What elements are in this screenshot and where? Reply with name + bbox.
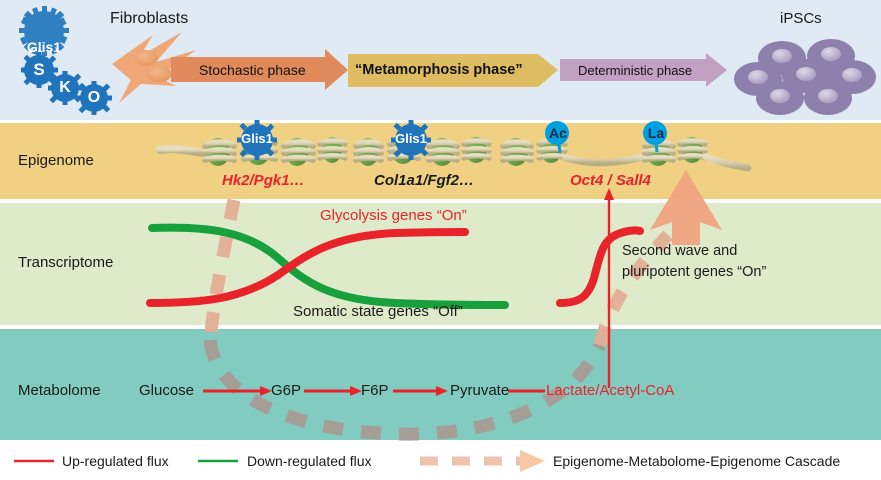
figure-root: Fibroblasts iPSCs Glis1 S K O Stochastic… [0,0,881,480]
curve-label-somatic-off: Somatic state genes “Off” [293,303,463,320]
gene-label-glycolytic: Hk2/Pgk1… [222,172,305,189]
metabolite-label-pyruvate: Pyruvate [450,382,509,399]
metabolite-label-glucose: Glucose [139,382,194,399]
band-label-transcriptome: Transcriptome [18,254,113,271]
chromatin-gear-label-glis1-a: Glis1 [235,131,279,146]
legend-label-cascade: Epigenome-Metabolome-Epigenome Cascade [553,453,840,469]
legend-label-up-regulated: Up-regulated flux [62,453,169,469]
gear-label-sox2: S [29,60,49,80]
band-label-epigenome: Epigenome [18,152,94,169]
gene-label-somatic: Col1a1/Fgf2… [374,172,474,189]
metabolite-label-f6p: F6P [361,382,389,399]
chromatin-gear-label-glis1-b: Glis1 [389,131,433,146]
curve-label-second-wave-line2: pluripotent genes “On” [622,264,766,280]
modification-label-acetylation: Ac [547,125,569,141]
band-label-metabolome: Metabolome [18,382,101,399]
curve-label-glycolysis-on: Glycolysis genes “On” [320,207,467,224]
legend-label-down-regulated: Down-regulated flux [247,453,372,469]
legend-symbol-cascade-arrow [420,450,545,472]
ipscs-label: iPSCs [780,10,822,27]
gear-label-klf4: K [55,79,75,97]
phase-label-stochastic: Stochastic phase [199,62,306,78]
metabolite-label-g6p: G6P [271,382,301,399]
phase-label-deterministic: Deterministic phase [578,63,692,78]
modification-label-lactylation: La [645,125,667,141]
gear-label-oct4: O [84,89,104,107]
fibroblasts-label: Fibroblasts [110,10,188,28]
phase-label-metamorphosis: “Metamorphosis phase” [355,62,523,78]
gear-label-glis1: Glis1 [20,39,68,55]
metabolite-label-lactate-acetyl-coa: Lactate/Acetyl-CoA [546,382,674,399]
gene-label-pluripotent: Oct4 / Sall4 [570,172,651,189]
curve-label-second-wave-line1: Second wave and [622,243,737,259]
band-metabolome [0,329,881,440]
